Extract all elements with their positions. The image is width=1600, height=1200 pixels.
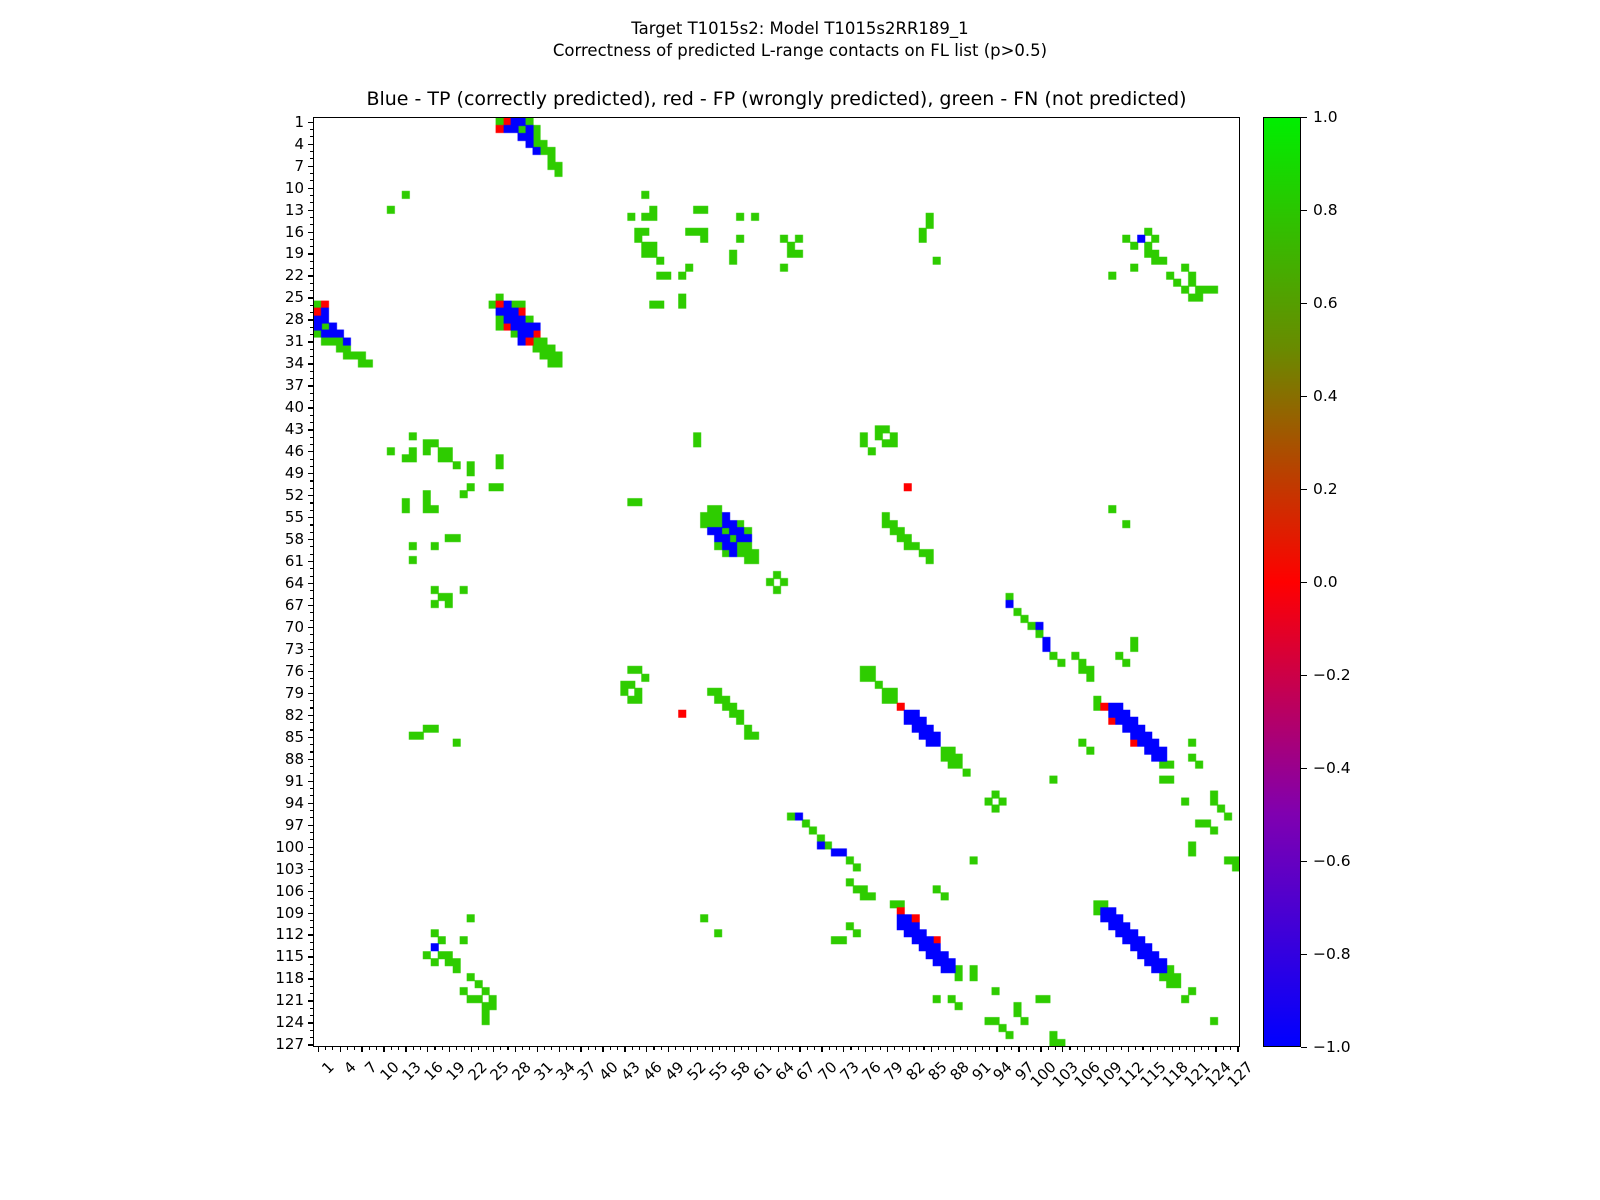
x-tick-minor (1186, 1046, 1187, 1050)
x-tick-minor (967, 1046, 968, 1050)
y-tick-label: 58 (285, 530, 304, 548)
colorbar-tick (1301, 861, 1307, 862)
x-tick-major (799, 1046, 800, 1052)
x-tick-major (778, 1046, 779, 1052)
y-tick-minor (310, 1015, 314, 1016)
y-tick-major (308, 210, 314, 211)
x-tick-minor (354, 1046, 355, 1050)
y-tick-major (308, 847, 314, 848)
y-tick-minor (310, 927, 314, 928)
y-tick-minor (310, 612, 314, 613)
y-tick-minor (310, 466, 314, 467)
y-tick-minor (310, 986, 314, 987)
x-tick-minor (1091, 1046, 1092, 1050)
y-tick-minor (310, 773, 314, 774)
x-tick-major (887, 1046, 888, 1052)
x-tick-major (734, 1046, 735, 1052)
x-tick-major (318, 1046, 319, 1052)
x-tick-minor (617, 1046, 618, 1050)
y-tick-minor (310, 854, 314, 855)
y-tick-major (308, 341, 314, 342)
x-tick-minor (741, 1046, 742, 1050)
y-tick-minor (310, 459, 314, 460)
y-tick-major (308, 1022, 314, 1023)
x-tick-major (931, 1046, 932, 1052)
y-tick-minor (310, 920, 314, 921)
x-tick-minor (923, 1046, 924, 1050)
x-tick-minor (420, 1046, 421, 1050)
colorbar-tick (1301, 396, 1307, 397)
x-tick-minor (1223, 1046, 1224, 1050)
y-tick-major (308, 363, 314, 364)
y-tick-label: 49 (285, 464, 304, 482)
y-tick-minor (310, 217, 314, 218)
x-tick-minor (1099, 1046, 1100, 1050)
x-tick-major (1194, 1046, 1195, 1052)
y-tick-label: 13 (285, 201, 304, 219)
y-tick-major (308, 737, 314, 738)
y-tick-minor (310, 488, 314, 489)
y-tick-minor (310, 422, 314, 423)
colorbar-tick (1301, 489, 1307, 490)
y-tick-minor (310, 502, 314, 503)
x-tick-major (1084, 1046, 1085, 1052)
y-tick-minor (310, 766, 314, 767)
y-tick-major (308, 407, 314, 408)
y-tick-label: 31 (285, 332, 304, 350)
y-tick-label: 73 (285, 640, 304, 658)
y-tick-minor (310, 151, 314, 152)
y-tick-minor (310, 810, 314, 811)
y-tick-major (308, 781, 314, 782)
y-tick-major (308, 188, 314, 189)
y-tick-major (308, 495, 314, 496)
y-tick-major (308, 671, 314, 672)
x-tick-minor (1201, 1046, 1202, 1050)
y-tick-major (308, 122, 314, 123)
x-tick-minor (748, 1046, 749, 1050)
y-tick-label: 67 (285, 596, 304, 614)
y-tick-minor (310, 268, 314, 269)
y-tick-major (308, 1000, 314, 1001)
x-tick-major (953, 1046, 954, 1052)
y-tick-minor (310, 371, 314, 372)
x-tick-label: 127 (1224, 1058, 1257, 1091)
colorbar-tick-label: −1.0 (1313, 1038, 1351, 1056)
y-tick-minor (310, 664, 314, 665)
y-tick-minor (310, 898, 314, 899)
x-tick-major (427, 1046, 428, 1052)
y-tick-major (308, 956, 314, 957)
y-tick-major (308, 693, 314, 694)
y-tick-label: 28 (285, 310, 304, 328)
y-tick-minor (310, 788, 314, 789)
y-tick-label: 109 (275, 904, 304, 922)
y-tick-minor (310, 942, 314, 943)
x-tick-minor (1121, 1046, 1122, 1050)
colorbar-tick (1301, 954, 1307, 955)
x-tick-minor (639, 1046, 640, 1050)
x-tick-major (471, 1046, 472, 1052)
y-tick-label: 85 (285, 728, 304, 746)
y-tick-minor (310, 700, 314, 701)
figure-title-line-1: Target T1015s2: Model T1015s2RR189_1 (0, 18, 1600, 40)
y-tick-major (308, 869, 314, 870)
y-tick-label: 79 (285, 684, 304, 702)
x-tick-minor (434, 1046, 435, 1050)
y-tick-minor (310, 510, 314, 511)
x-tick-minor (566, 1046, 567, 1050)
x-tick-minor (551, 1046, 552, 1050)
colorbar-tick (1301, 582, 1307, 583)
colorbar: 1.00.80.60.40.20.0−0.2−0.4−0.6−0.8−1.0 (1263, 117, 1301, 1047)
colorbar-tick-label: 0.6 (1313, 294, 1338, 312)
x-tick-major (843, 1046, 844, 1052)
y-tick-label: 61 (285, 552, 304, 570)
y-tick-minor (310, 642, 314, 643)
figure-title-block: Target T1015s2: Model T1015s2RR189_1 Cor… (0, 18, 1600, 63)
y-tick-label: 115 (275, 947, 304, 965)
x-tick-major (1128, 1046, 1129, 1052)
x-tick-minor (763, 1046, 764, 1050)
x-tick-minor (456, 1046, 457, 1050)
x-tick-minor (1026, 1046, 1027, 1050)
colorbar-tick-label: 1.0 (1313, 108, 1338, 126)
y-tick-minor (310, 590, 314, 591)
x-tick-minor (902, 1046, 903, 1050)
colorbar-tick-label: 0.0 (1313, 573, 1338, 591)
y-tick-label: 16 (285, 223, 304, 241)
y-tick-major (308, 934, 314, 935)
y-tick-major (308, 561, 314, 562)
y-tick-minor (310, 876, 314, 877)
y-tick-label: 82 (285, 706, 304, 724)
x-tick-minor (1048, 1046, 1049, 1050)
colorbar-tick (1301, 117, 1307, 118)
x-tick-minor (938, 1046, 939, 1050)
colorbar-tick (1301, 768, 1307, 769)
x-tick-minor (850, 1046, 851, 1050)
x-tick-minor (836, 1046, 837, 1050)
x-tick-major (559, 1046, 560, 1052)
x-tick-major (821, 1046, 822, 1052)
axes-legend-title: Blue - TP (correctly predicted), red - F… (313, 88, 1240, 110)
x-tick-minor (858, 1046, 859, 1050)
x-tick-minor (544, 1046, 545, 1050)
y-tick-minor (310, 707, 314, 708)
y-tick-label: 112 (275, 925, 304, 943)
y-tick-minor (310, 964, 314, 965)
y-tick-minor (310, 283, 314, 284)
y-tick-major (308, 517, 314, 518)
y-tick-minor (310, 312, 314, 313)
x-tick-minor (1179, 1046, 1180, 1050)
y-tick-minor (310, 971, 314, 972)
y-tick-minor (310, 729, 314, 730)
x-tick-major (624, 1046, 625, 1052)
x-tick-minor (332, 1046, 333, 1050)
x-tick-minor (960, 1046, 961, 1050)
x-tick-minor (369, 1046, 370, 1050)
x-tick-minor (726, 1046, 727, 1050)
y-tick-label: 19 (285, 244, 304, 262)
y-tick-minor (310, 656, 314, 657)
y-tick-label: 22 (285, 266, 304, 284)
y-tick-label: 46 (285, 442, 304, 460)
x-tick-major (537, 1046, 538, 1052)
x-tick-minor (610, 1046, 611, 1050)
y-tick-major (308, 649, 314, 650)
x-tick-minor (894, 1046, 895, 1050)
y-tick-label: 55 (285, 508, 304, 526)
y-tick-major (308, 253, 314, 254)
y-tick-label: 43 (285, 420, 304, 438)
y-tick-minor (310, 949, 314, 950)
y-tick-minor (310, 349, 314, 350)
colorbar-tick-label: −0.6 (1313, 852, 1351, 870)
colorbar-tick (1301, 675, 1307, 676)
y-tick-minor (310, 634, 314, 635)
y-tick-minor (310, 832, 314, 833)
x-tick-minor (325, 1046, 326, 1050)
x-tick-label: 1 (318, 1058, 337, 1077)
x-tick-major (1237, 1046, 1238, 1052)
y-tick-major (308, 144, 314, 145)
y-tick-minor (310, 686, 314, 687)
colorbar-tick-label: 0.8 (1313, 201, 1338, 219)
y-tick-minor (310, 239, 314, 240)
y-tick-label: 103 (275, 860, 304, 878)
y-tick-minor (310, 554, 314, 555)
x-tick-minor (464, 1046, 465, 1050)
y-tick-minor (310, 356, 314, 357)
y-tick-minor (310, 480, 314, 481)
y-tick-major (308, 759, 314, 760)
y-tick-major (308, 583, 314, 584)
y-tick-minor (310, 334, 314, 335)
y-tick-major (308, 825, 314, 826)
x-tick-minor (507, 1046, 508, 1050)
y-tick-minor (310, 993, 314, 994)
y-tick-minor (310, 415, 314, 416)
y-tick-major (308, 627, 314, 628)
colorbar-tick-label: −0.2 (1313, 666, 1351, 684)
y-tick-minor (310, 546, 314, 547)
x-tick-major (712, 1046, 713, 1052)
y-tick-minor (310, 576, 314, 577)
colorbar-tick-label: 0.2 (1313, 480, 1338, 498)
x-tick-minor (1142, 1046, 1143, 1050)
x-tick-minor (829, 1046, 830, 1050)
y-tick-label: 121 (275, 991, 304, 1009)
x-tick-minor (719, 1046, 720, 1050)
y-tick-label: 25 (285, 288, 304, 306)
x-tick-minor (442, 1046, 443, 1050)
x-tick-major (580, 1046, 581, 1052)
y-tick-label: 100 (275, 838, 304, 856)
x-tick-major (493, 1046, 494, 1052)
x-tick-minor (595, 1046, 596, 1050)
y-tick-minor (310, 568, 314, 569)
x-tick-minor (770, 1046, 771, 1050)
x-tick-major (602, 1046, 603, 1052)
y-tick-minor (310, 305, 314, 306)
x-tick-minor (1069, 1046, 1070, 1050)
x-tick-major (340, 1046, 341, 1052)
y-tick-minor (310, 1030, 314, 1031)
x-tick-major (690, 1046, 691, 1052)
x-tick-minor (1033, 1046, 1034, 1050)
y-tick-minor (310, 437, 314, 438)
y-tick-major (308, 803, 314, 804)
y-tick-label: 124 (275, 1013, 304, 1031)
y-tick-minor (310, 722, 314, 723)
y-tick-minor (310, 246, 314, 247)
x-tick-minor (807, 1046, 808, 1050)
x-tick-major (1018, 1046, 1019, 1052)
y-tick-label: 37 (285, 376, 304, 394)
colorbar-tick-label: 0.4 (1313, 387, 1338, 405)
x-tick-major (361, 1046, 362, 1052)
y-tick-label: 70 (285, 618, 304, 636)
x-tick-minor (522, 1046, 523, 1050)
y-tick-label: 76 (285, 662, 304, 680)
x-tick-major (1040, 1046, 1041, 1052)
x-tick-major (1215, 1046, 1216, 1052)
y-tick-minor (310, 444, 314, 445)
x-tick-major (756, 1046, 757, 1052)
x-tick-minor (632, 1046, 633, 1050)
y-tick-minor (310, 817, 314, 818)
y-tick-minor (310, 261, 314, 262)
x-tick-major (668, 1046, 669, 1052)
x-tick-minor (1135, 1046, 1136, 1050)
y-tick-label: 91 (285, 772, 304, 790)
y-tick-minor (310, 598, 314, 599)
y-tick-label: 52 (285, 486, 304, 504)
x-tick-minor (413, 1046, 414, 1050)
y-tick-major (308, 385, 314, 386)
x-tick-minor (792, 1046, 793, 1050)
x-tick-minor (1164, 1046, 1165, 1050)
colorbar-tick-label: −0.8 (1313, 945, 1351, 963)
x-tick-minor (1055, 1046, 1056, 1050)
x-tick-minor (1004, 1046, 1005, 1050)
y-tick-major (308, 473, 314, 474)
x-tick-major (865, 1046, 866, 1052)
x-tick-minor (347, 1046, 348, 1050)
y-tick-label: 34 (285, 354, 304, 372)
y-tick-label: 97 (285, 816, 304, 834)
x-tick-major (1172, 1046, 1173, 1052)
y-tick-minor (310, 136, 314, 137)
x-tick-major (515, 1046, 516, 1052)
y-tick-major (308, 297, 314, 298)
y-tick-label: 40 (285, 398, 304, 416)
y-tick-major (308, 1044, 314, 1045)
y-tick-label: 7 (294, 157, 304, 175)
y-tick-label: 94 (285, 794, 304, 812)
y-tick-minor (310, 393, 314, 394)
x-tick-major (1062, 1046, 1063, 1052)
x-tick-major (646, 1046, 647, 1052)
y-tick-minor (310, 524, 314, 525)
colorbar-tick (1301, 1047, 1307, 1048)
x-tick-minor (916, 1046, 917, 1050)
y-tick-label: 106 (275, 882, 304, 900)
x-tick-minor (500, 1046, 501, 1050)
x-tick-minor (573, 1046, 574, 1050)
x-tick-minor (697, 1046, 698, 1050)
y-tick-major (308, 275, 314, 276)
y-tick-minor (310, 1008, 314, 1009)
contact-map-canvas (314, 118, 1239, 1046)
y-tick-minor (310, 620, 314, 621)
colorbar-tick (1301, 303, 1307, 304)
y-tick-major (308, 913, 314, 914)
x-tick-minor (872, 1046, 873, 1050)
y-tick-major (308, 605, 314, 606)
colorbar-tick (1301, 210, 1307, 211)
x-tick-label: 4 (340, 1058, 359, 1077)
x-tick-minor (989, 1046, 990, 1050)
y-tick-minor (310, 180, 314, 181)
y-tick-label: 118 (275, 969, 304, 987)
y-tick-minor (310, 795, 314, 796)
y-tick-major (308, 166, 314, 167)
x-tick-minor (478, 1046, 479, 1050)
x-tick-minor (653, 1046, 654, 1050)
x-tick-minor (1157, 1046, 1158, 1050)
x-tick-minor (880, 1046, 881, 1050)
y-tick-minor (310, 905, 314, 906)
y-tick-label: 10 (285, 179, 304, 197)
y-tick-major (308, 451, 314, 452)
y-tick-minor (310, 678, 314, 679)
y-tick-major (308, 232, 314, 233)
y-tick-major (308, 539, 314, 540)
x-tick-minor (705, 1046, 706, 1050)
y-tick-label: 88 (285, 750, 304, 768)
colorbar-gradient (1263, 117, 1301, 1047)
x-tick-minor (1113, 1046, 1114, 1050)
x-tick-minor (529, 1046, 530, 1050)
x-tick-minor (486, 1046, 487, 1050)
x-tick-major (405, 1046, 406, 1052)
x-tick-minor (1011, 1046, 1012, 1050)
y-tick-minor (310, 400, 314, 401)
x-tick-minor (982, 1046, 983, 1050)
y-tick-minor (310, 883, 314, 884)
x-tick-major (996, 1046, 997, 1052)
y-tick-minor (310, 158, 314, 159)
x-tick-major (909, 1046, 910, 1052)
x-tick-minor (661, 1046, 662, 1050)
y-tick-minor (310, 224, 314, 225)
y-tick-label: 127 (275, 1035, 304, 1053)
y-tick-minor (310, 378, 314, 379)
y-tick-major (308, 891, 314, 892)
contact-map-plot: 1471013161922252831343740434649525558616… (313, 117, 1240, 1047)
y-tick-minor (310, 290, 314, 291)
y-tick-label: 1 (294, 113, 304, 131)
x-tick-minor (785, 1046, 786, 1050)
y-tick-minor (310, 327, 314, 328)
x-tick-minor (814, 1046, 815, 1050)
y-tick-minor (310, 751, 314, 752)
y-tick-minor (310, 839, 314, 840)
y-tick-major (308, 978, 314, 979)
